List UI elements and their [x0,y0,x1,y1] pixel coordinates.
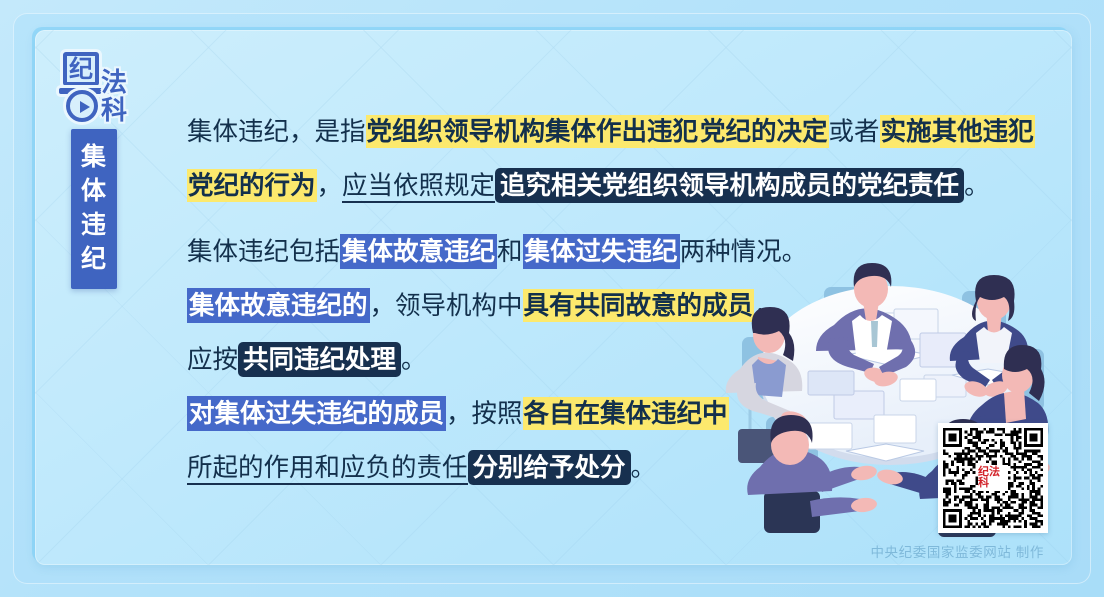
text-run: 实施其他违犯 [880,115,1035,148]
banner-char-4: 纪 [71,242,117,276]
banner-char-2: 体 [71,174,117,208]
qr-center-logo: 纪法科 [978,465,1008,491]
text-run: 分别给予处分 [468,450,631,485]
qr-code[interactable]: 纪法科 [938,423,1048,533]
text-run: 各自在集体违纪中 [523,397,729,430]
text-run: ，领导机构中 [370,291,523,320]
text-run: 共同违纪处理 [238,342,401,377]
poster-root: 纪 法 科 集 体 违 纪 集体违纪，是指党组织领导机构集体作出违犯党纪的决定或… [0,0,1104,597]
logo-char-ke: 科 [101,90,127,127]
text-run: 追究相关党组织领导机构成员的党纪责任 [495,168,964,203]
text-run: 应按 [187,345,238,374]
text-run: 党组织领导机构集体作出违犯 [366,115,700,148]
text-run: 。 [401,345,427,374]
banner-char-1: 集 [71,140,117,174]
text-line: 集体违纪，是指党组织领导机构集体作出违犯党纪的决定或者实施其他违犯 [187,105,977,159]
text-run: 具有共同故意的成员 [523,289,755,322]
text-run: 。 [964,171,990,200]
brand-banner: 集 体 违 纪 [71,129,117,289]
logo-char-ji: 纪 [63,52,99,86]
logo-mark: 纪 法 科 [57,52,139,124]
text-run: 对集体过失违纪的成员 [187,396,446,431]
text-run: 党纪的决定 [699,115,829,148]
credit-text: 中央纪委国家监委网站 制作 [870,541,1044,561]
text-run: 所起的作用和应负的责任 [187,453,468,485]
text-run: 集体故意违纪 [340,234,497,269]
text-run: 党纪的行为 [187,169,317,202]
text-run: 或者 [829,117,880,146]
text-run: 应当依照规定 [342,171,495,203]
text-run: 。 [631,453,657,482]
text-run: 和 [497,237,523,266]
banner-char-3: 违 [71,208,117,242]
text-run: ， [317,171,343,200]
text-run: 集体过失违纪 [523,234,680,269]
text-run: ，按照 [446,399,523,428]
paragraph-1: 集体违纪，是指党组织领导机构集体作出违犯党纪的决定或者实施其他违犯 党纪的行为，… [187,105,977,213]
text-line: 党纪的行为，应当依照规定追究相关党组织领导机构成员的党纪责任。 [187,159,977,213]
play-circle-icon [66,90,98,122]
brand-logo: 纪 法 科 集 体 违 纪 [57,52,139,289]
text-run: 集体违纪，是指 [187,117,366,146]
text-run: 集体违纪包括 [187,237,340,266]
inner-panel: 纪 法 科 集 体 违 纪 集体违纪，是指党组织领导机构集体作出违犯党纪的决定或… [35,30,1072,565]
text-run: 集体故意违纪的 [187,288,370,323]
